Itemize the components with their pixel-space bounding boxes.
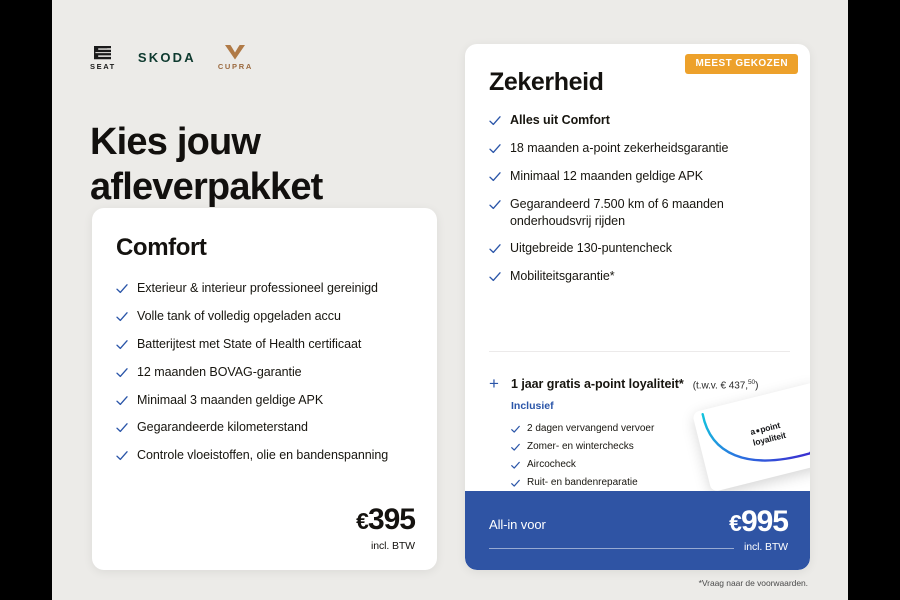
list-item: 18 maanden a-point zekerheidsgarantie bbox=[489, 140, 792, 157]
brand-logo-row: SEAT SKODA CUPRA bbox=[90, 40, 253, 74]
list-item-label: 18 maanden a-point zekerheidsgarantie bbox=[510, 140, 728, 157]
check-icon bbox=[116, 339, 128, 351]
list-item-label: Minimaal 3 maanden geldige APK bbox=[137, 392, 323, 409]
list-item-label: Batterijtest met State of Health certifi… bbox=[137, 336, 361, 353]
cupra-logo-wordmark: CUPRA bbox=[218, 63, 253, 71]
cupra-emblem-icon bbox=[224, 44, 246, 60]
comfort-feature-list: Exterieur & interieur professioneel gere… bbox=[116, 280, 419, 475]
list-item-label: Mobiliteitsgarantie* bbox=[510, 268, 615, 285]
inclusief-label: Inclusief bbox=[511, 400, 554, 412]
zekerheid-price: €995 bbox=[729, 507, 788, 537]
list-item: Mobiliteitsgarantie* bbox=[489, 268, 792, 285]
check-icon bbox=[489, 199, 501, 211]
package-card-comfort[interactable]: Comfort Exterieur & interieur profession… bbox=[92, 208, 437, 570]
cupra-logo: CUPRA bbox=[218, 44, 253, 71]
disclaimer-text: *Vraag naar de voorwaarden. bbox=[699, 578, 808, 588]
check-icon bbox=[511, 443, 520, 452]
currency-symbol: € bbox=[356, 508, 368, 534]
zekerheid-card-title: Zekerheid bbox=[489, 68, 604, 97]
check-icon bbox=[116, 283, 128, 295]
list-item: Ruit- en bandenreparatie bbox=[511, 477, 654, 490]
comfort-price: €395 bbox=[356, 505, 415, 535]
loyalty-card-graphic: apoint loyaliteit bbox=[692, 382, 810, 493]
zekerheid-price-amount: 995 bbox=[741, 505, 788, 538]
list-item-label: Uitgebreide 130-puntencheck bbox=[510, 240, 672, 257]
package-card-zekerheid[interactable]: MEEST GEKOZEN Zekerheid Alles uit Comfor… bbox=[465, 44, 810, 570]
zekerheid-price-footer: All-in voor €995 incl. BTW bbox=[465, 491, 810, 570]
list-item-label: Gegarandeerd 7.500 km of 6 maanden onder… bbox=[510, 196, 792, 230]
list-item: Gegarandeerde kilometerstand bbox=[116, 419, 419, 436]
check-icon bbox=[489, 171, 501, 183]
list-item: Gegarandeerd 7.500 km of 6 maanden onder… bbox=[489, 196, 792, 230]
zekerheid-price-note: incl. BTW bbox=[744, 541, 788, 553]
list-item-label: Exterieur & interieur professioneel gere… bbox=[137, 280, 378, 297]
list-item-label: Volle tank of volledig opgeladen accu bbox=[137, 308, 341, 325]
page-content: SEAT SKODA CUPRA Kies jouw afleverpakket… bbox=[52, 0, 848, 600]
section-divider bbox=[489, 351, 790, 352]
page-title: Kies jouw afleverpakket bbox=[90, 120, 450, 210]
all-in-label: All-in voor bbox=[489, 517, 546, 532]
zekerheid-feature-list: Alles uit Comfort 18 maanden a-point zek… bbox=[489, 112, 792, 296]
list-item-label: 2 dagen vervangend vervoer bbox=[527, 423, 654, 436]
list-item-label: Zomer- en winterchecks bbox=[527, 441, 634, 454]
list-item: Alles uit Comfort bbox=[489, 112, 792, 129]
currency-symbol: € bbox=[729, 510, 741, 536]
page-title-line-1: Kies jouw bbox=[90, 121, 260, 163]
seat-logo-wordmark: SEAT bbox=[90, 63, 116, 71]
list-item-label: Controle vloeistoffen, olie en bandenspa… bbox=[137, 447, 388, 464]
list-item: 12 maanden BOVAG-garantie bbox=[116, 364, 419, 381]
comfort-price-amount: 395 bbox=[368, 503, 415, 536]
comfort-card-title: Comfort bbox=[116, 234, 207, 262]
list-item-label: Gegarandeerde kilometerstand bbox=[137, 419, 308, 436]
list-item-label: Minimaal 12 maanden geldige APK bbox=[510, 168, 703, 185]
seat-emblem-icon bbox=[93, 44, 113, 61]
check-icon bbox=[116, 422, 128, 434]
list-item: Exterieur & interieur professioneel gere… bbox=[116, 280, 419, 297]
list-item-label: Ruit- en bandenreparatie bbox=[527, 477, 638, 490]
bonus-row: + 1 jaar gratis a-point loyaliteit* (t.w… bbox=[489, 374, 794, 391]
check-icon bbox=[489, 243, 501, 255]
skoda-logo-wordmark: SKODA bbox=[138, 51, 196, 64]
list-item-label: Alles uit Comfort bbox=[510, 112, 610, 129]
comfort-price-block: €395 incl. BTW bbox=[356, 505, 415, 552]
check-icon bbox=[489, 115, 501, 127]
plus-icon: + bbox=[489, 375, 502, 392]
check-icon bbox=[511, 479, 520, 488]
list-item-label: 12 maanden BOVAG-garantie bbox=[137, 364, 302, 381]
bonus-value-prefix: (t.w.v. € 437, bbox=[693, 380, 748, 391]
list-item: Aircocheck bbox=[511, 459, 654, 472]
check-icon bbox=[511, 425, 520, 434]
loyalty-card-brand-a: a bbox=[749, 426, 756, 437]
check-icon bbox=[489, 271, 501, 283]
comfort-price-note: incl. BTW bbox=[356, 540, 415, 552]
screenshot-stage: SEAT SKODA CUPRA Kies jouw afleverpakket… bbox=[0, 0, 900, 600]
check-icon bbox=[116, 367, 128, 379]
check-icon bbox=[511, 461, 520, 470]
check-icon bbox=[489, 143, 501, 155]
list-item: 2 dagen vervangend vervoer bbox=[511, 423, 654, 436]
status-badge: MEEST GEKOZEN bbox=[685, 54, 798, 74]
bonus-value-suffix: ) bbox=[755, 380, 758, 391]
list-item: Batterijtest met State of Health certifi… bbox=[116, 336, 419, 353]
seat-logo: SEAT bbox=[90, 44, 116, 71]
list-item: Zomer- en winterchecks bbox=[511, 441, 654, 454]
check-icon bbox=[116, 311, 128, 323]
list-item-label: Aircocheck bbox=[527, 459, 576, 472]
list-item: Volle tank of volledig opgeladen accu bbox=[116, 308, 419, 325]
check-icon bbox=[116, 450, 128, 462]
check-icon bbox=[116, 395, 128, 407]
bonus-value-note: (t.w.v. € 437,50) bbox=[693, 379, 759, 391]
footer-rule bbox=[489, 548, 734, 549]
list-item: Minimaal 12 maanden geldige APK bbox=[489, 168, 792, 185]
list-item: Uitgebreide 130-puntencheck bbox=[489, 240, 792, 257]
loyalty-card-dot-icon bbox=[756, 429, 759, 432]
bonus-sub-list: 2 dagen vervangend vervoer Zomer- en win… bbox=[511, 423, 654, 495]
page-title-line-2: afleverpakket bbox=[90, 165, 450, 210]
bonus-label: 1 jaar gratis a-point loyaliteit* bbox=[511, 377, 684, 391]
list-item: Minimaal 3 maanden geldige APK bbox=[116, 392, 419, 409]
list-item: Controle vloeistoffen, olie en bandenspa… bbox=[116, 447, 419, 464]
